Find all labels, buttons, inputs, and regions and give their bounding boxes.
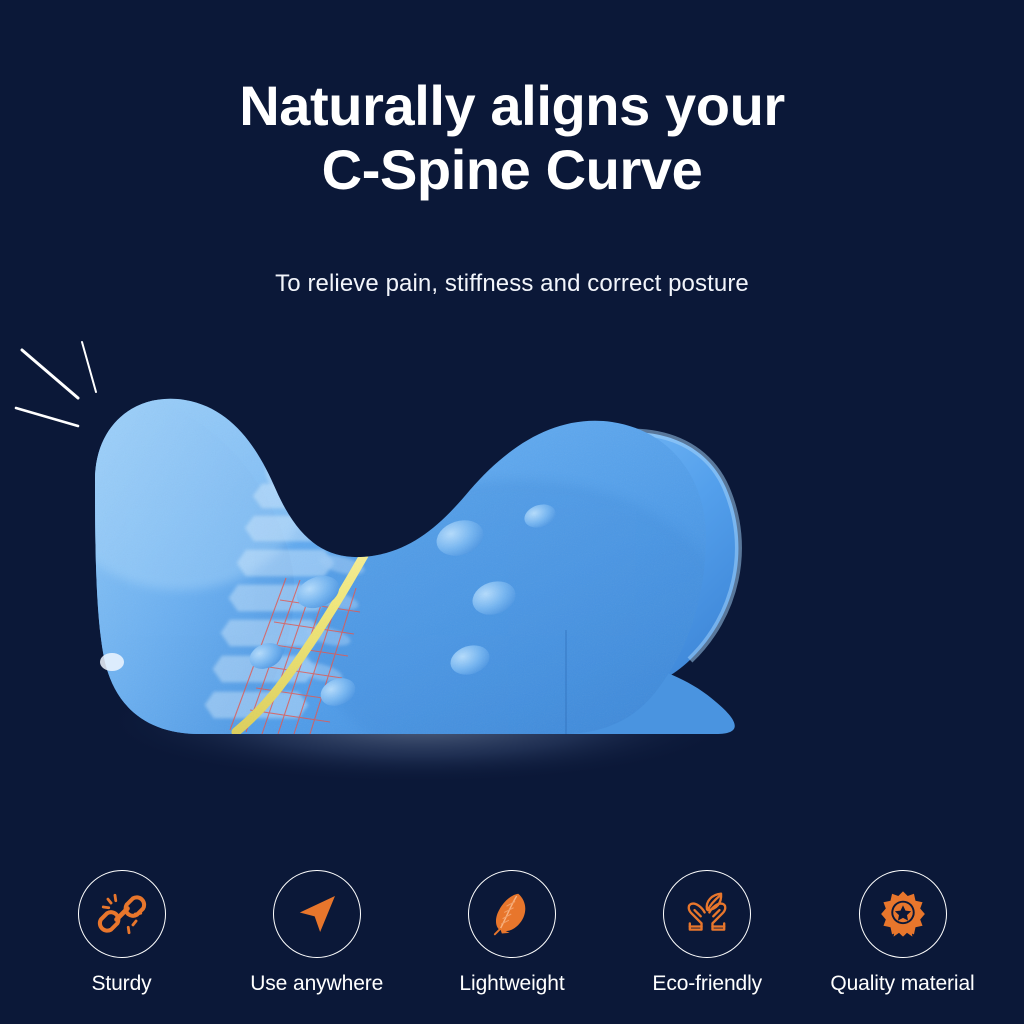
feature-icon-circle (859, 870, 947, 958)
feature-item-sturdy[interactable]: Sturdy (34, 870, 209, 996)
product-image-stage (0, 330, 1024, 830)
feature-label: Sturdy (91, 972, 151, 996)
navigation-arrow-icon (292, 889, 342, 939)
feature-icon-circle (78, 870, 166, 958)
feature-item-lightweight[interactable]: Lightweight (425, 870, 600, 996)
feature-label: Eco-friendly (652, 972, 762, 996)
page-subtitle: To relieve pain, stiffness and correct p… (0, 270, 1024, 298)
hands-holding-leaf-icon (682, 889, 732, 939)
award-rosette-icon (878, 889, 928, 939)
headline-line-1: Naturally aligns your (239, 74, 785, 137)
headline-line-2: C-Spine Curve (0, 138, 1024, 202)
chain-link-icon (97, 889, 147, 939)
feature-label: Quality material (830, 972, 974, 996)
feature-label: Lightweight (459, 972, 564, 996)
cervical-neck-stretcher-pillow (0, 330, 1024, 830)
feather-icon (487, 889, 537, 939)
page-title: Naturally aligns your C-Spine Curve (0, 74, 1024, 202)
sparkle-icon (16, 342, 96, 426)
feature-item-eco-friendly[interactable]: Eco-friendly (620, 870, 795, 996)
feature-icon-circle (468, 870, 556, 958)
feature-icon-circle (273, 870, 361, 958)
feature-item-quality-material[interactable]: Quality material (815, 870, 990, 996)
feature-icon-circle (663, 870, 751, 958)
feature-list: Sturdy Use anywhere Lightweight (0, 870, 1024, 996)
feature-item-use-anywhere[interactable]: Use anywhere (229, 870, 404, 996)
feature-label: Use anywhere (250, 972, 383, 996)
